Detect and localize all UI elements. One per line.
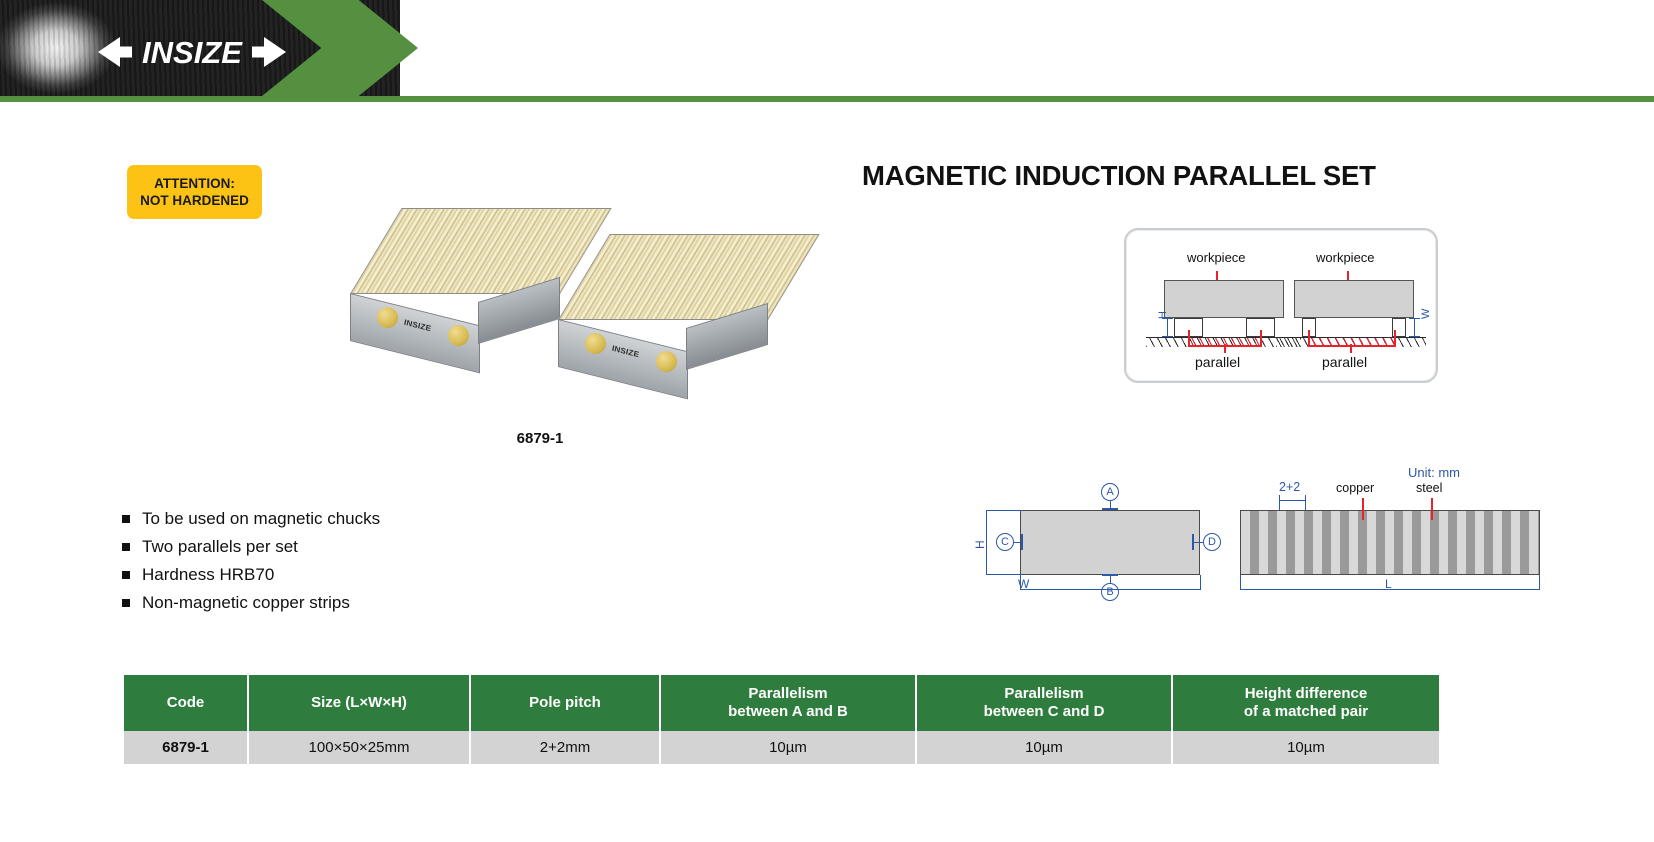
copper-label: copper <box>1336 481 1374 495</box>
table-header-size: Size (L×W×H) <box>249 675 471 731</box>
cell-parallelism-ab: 10µm <box>661 731 917 764</box>
logo-left-arrow-icon <box>98 37 120 67</box>
height-dim-ext-bottom <box>986 574 1022 575</box>
usage-left-workpiece <box>1164 280 1284 318</box>
list-item: To be used on magnetic chucks <box>122 508 542 531</box>
cell-code: 6879-1 <box>124 731 249 764</box>
usage-left-height-dim-line <box>1167 318 1168 337</box>
pole-pitch-ext-left <box>1279 495 1280 510</box>
product-datasheet-page: INSIZE ATTENTION: NOT HARDENED INSIZE IN… <box>0 0 1654 842</box>
datum-c-symbol: C <box>996 533 1014 551</box>
usage-right-parallel-label: parallel <box>1322 354 1367 370</box>
product-dot <box>448 325 469 346</box>
steel-leader <box>1431 498 1433 520</box>
bullet-square-icon <box>122 543 130 551</box>
usage-right-width-label: W <box>1420 309 1432 319</box>
insize-logo-text: INSIZE <box>142 37 242 68</box>
cell-parallelism-cd: 10µm <box>917 731 1173 764</box>
table-header-parallelism-cd: Parallelism between C and D <box>917 675 1173 731</box>
header-line-2: between C and D <box>984 703 1105 721</box>
datum-d-symbol: D <box>1203 533 1221 551</box>
datum-d-stem <box>1194 542 1203 543</box>
datum-d-foot <box>1192 534 1194 550</box>
table-row: 6879-1 100×50×25mm 2+2mm 10µm 10µm 10µm <box>124 731 1439 764</box>
usage-left-workpiece-label: workpiece <box>1187 250 1246 265</box>
usage-left-red-measure <box>1188 330 1190 346</box>
datum-a-symbol: A <box>1101 483 1119 501</box>
width-dim-line <box>1020 589 1201 590</box>
product-photo: INSIZE INSIZE <box>320 200 820 425</box>
usage-left-parallel-label: parallel <box>1195 354 1240 370</box>
usage-diagram-box: workpiece parallel H workpiece <box>1124 228 1438 383</box>
usage-right-red-measure-span <box>1308 345 1396 347</box>
usage-left-height-tick <box>1162 318 1173 319</box>
page-header: INSIZE <box>0 0 1654 102</box>
page-title: MAGNETIC INDUCTION PARALLEL SET <box>862 160 1462 192</box>
datum-a-foot <box>1102 508 1118 510</box>
length-dim-label: L <box>1385 577 1392 591</box>
feature-text: Non-magnetic copper strips <box>142 592 350 615</box>
logo-right-arrow-icon <box>264 37 286 67</box>
attention-line-2: NOT HARDENED <box>140 192 249 209</box>
cell-size: 100×50×25mm <box>249 731 471 764</box>
usage-right-red-measure <box>1394 330 1396 346</box>
parallel-block-back: INSIZE <box>340 208 580 378</box>
header-line-1: Parallelism <box>728 685 848 703</box>
length-dim-ext-left <box>1240 575 1241 590</box>
datum-b-foot <box>1102 574 1118 576</box>
product-dot <box>377 307 398 328</box>
feature-list: To be used on magnetic chucks Two parall… <box>122 508 542 620</box>
usage-right-red-measure <box>1308 330 1310 346</box>
header-white-area <box>418 0 1654 96</box>
feature-text: To be used on magnetic chucks <box>142 508 380 531</box>
table-header-parallelism-ab: Parallelism between A and B <box>661 675 917 731</box>
usage-right-workpiece-label: workpiece <box>1316 250 1375 265</box>
feature-text: Two parallels per set <box>142 536 298 559</box>
table-header-pole-pitch: Pole pitch <box>471 675 661 731</box>
header-line-2: of a matched pair <box>1244 703 1368 721</box>
usage-left-height-tick <box>1162 336 1173 337</box>
pole-pitch-dim-line <box>1279 500 1306 501</box>
list-item: Two parallels per set <box>122 536 542 559</box>
insize-logo: INSIZE <box>98 30 286 74</box>
header-green-rule <box>0 96 1654 102</box>
cell-height-difference: 10µm <box>1173 731 1439 764</box>
cell-pole-pitch: 2+2mm <box>471 731 661 764</box>
bullet-square-icon <box>122 515 130 523</box>
table-header-code: Code <box>124 675 249 731</box>
attention-badge: ATTENTION: NOT HARDENED <box>127 165 262 219</box>
list-item: Non-magnetic copper strips <box>122 592 542 615</box>
header-line-1: Height difference <box>1244 685 1368 703</box>
product-dot <box>585 333 606 354</box>
laminated-strip-block <box>1240 510 1540 575</box>
usage-left-red-measure <box>1260 330 1262 346</box>
technical-drawing: Unit: mm A B C D H W 2+2 <box>900 465 1460 605</box>
height-dim-label: H <box>973 540 987 549</box>
usage-left-red-tick <box>1224 344 1226 353</box>
bullet-square-icon <box>122 599 130 607</box>
list-item: Hardness HRB70 <box>122 564 542 587</box>
table-header-height-difference: Height difference of a matched pair <box>1173 675 1439 731</box>
copper-leader <box>1362 498 1364 520</box>
pole-pitch-label: 2+2 <box>1279 480 1300 494</box>
header-line-1: Parallelism <box>984 685 1105 703</box>
length-dim-ext-right <box>1539 575 1540 590</box>
bullet-square-icon <box>122 571 130 579</box>
header-line-1: Code <box>167 694 205 712</box>
usage-right-width-tick <box>1409 318 1420 319</box>
usage-right-width-tick <box>1409 336 1420 337</box>
width-dim-ext-right <box>1200 575 1201 590</box>
pole-pitch-ext-right <box>1305 495 1306 510</box>
product-dot <box>656 351 677 372</box>
table-header-row: Code Size (L×W×H) Pole pitch Parallelism… <box>124 675 1439 731</box>
height-dim-ext-top <box>986 510 1022 511</box>
specification-table: Code Size (L×W×H) Pole pitch Parallelism… <box>124 675 1439 764</box>
attention-line-1: ATTENTION: <box>154 175 235 192</box>
unit-note: Unit: mm <box>1408 465 1460 480</box>
header-line-1: Size (L×W×H) <box>311 694 407 712</box>
width-dim-label: W <box>1018 577 1029 591</box>
header-line-2: between A and B <box>728 703 848 721</box>
cross-section-rectangle <box>1020 510 1200 575</box>
steel-label: steel <box>1416 481 1442 495</box>
datum-c-foot <box>1021 534 1023 550</box>
datum-b-stem <box>1110 575 1111 584</box>
usage-right-width-dim-line <box>1414 318 1415 337</box>
usage-right-red-tick <box>1350 344 1352 353</box>
usage-right-workpiece <box>1294 280 1414 318</box>
datum-b-symbol: B <box>1101 583 1119 601</box>
feature-text: Hardness HRB70 <box>142 564 274 587</box>
product-caption: 6879-1 <box>460 430 620 447</box>
header-line-1: Pole pitch <box>529 694 601 712</box>
parallel-block-front: INSIZE <box>548 234 798 414</box>
